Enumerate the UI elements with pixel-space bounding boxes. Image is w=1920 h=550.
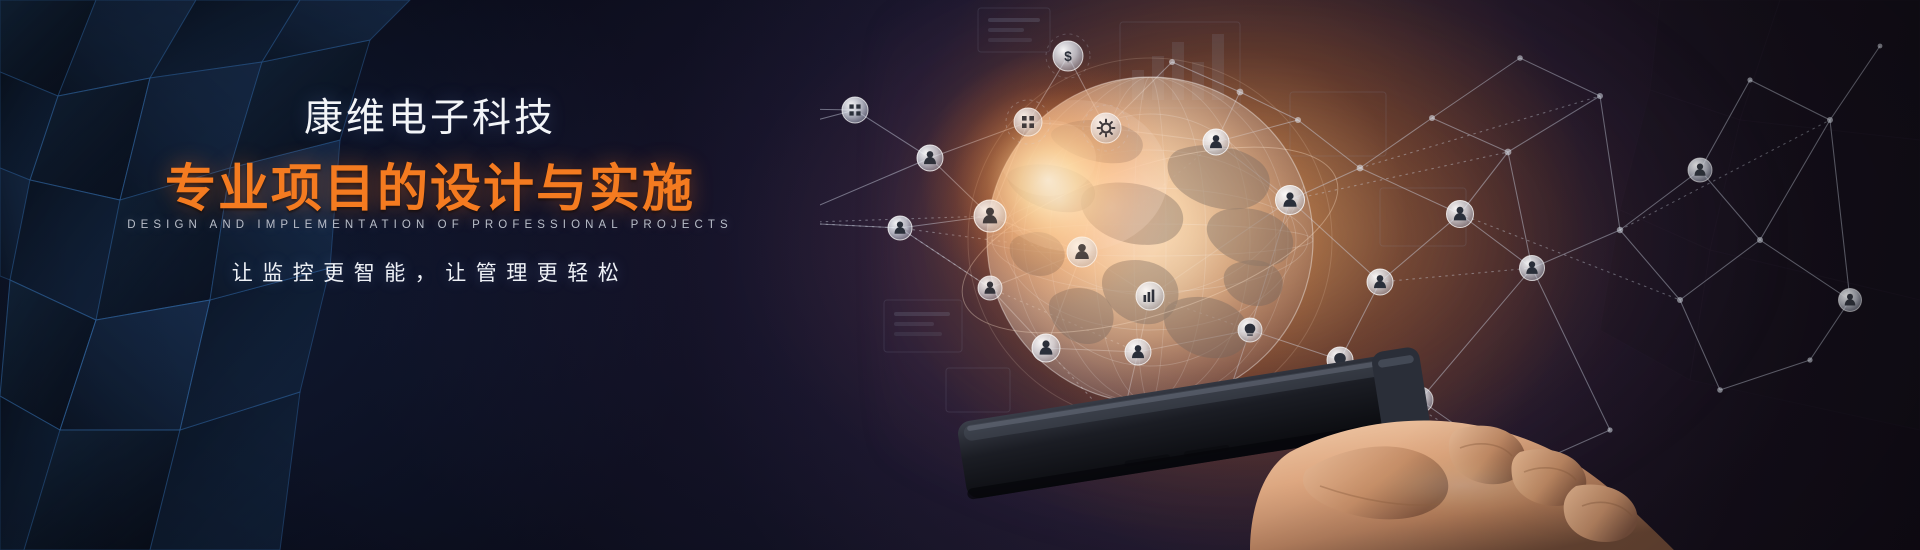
subtitle-english: DESIGN AND IMPLEMENTATION OF PROFESSIONA… (127, 220, 733, 232)
banner-text-block: 康维电子科技 专业项目的设计与实施 DESIGN AND IMPLEMENTAT… (0, 0, 860, 550)
brand-title: 康维电子科技 (304, 99, 556, 138)
headline: 专业项目的设计与实施 (165, 163, 695, 214)
hero-banner: $ $ (0, 0, 1920, 550)
tagline: 让监控更智能，让管理更轻松 (232, 263, 629, 284)
network-globe-graphic: $ $ (820, 0, 1920, 550)
